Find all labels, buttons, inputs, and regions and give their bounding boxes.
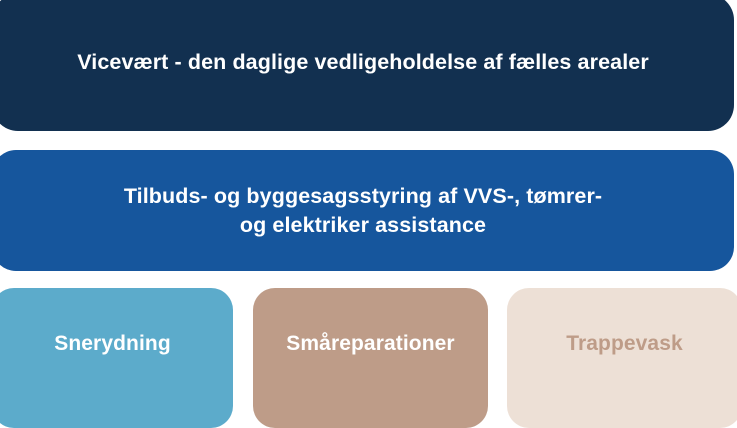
services-infographic: Vicevært - den daglige vedligeholdelse a… [0,0,737,420]
service-card-snerydning-label: Snerydning [42,330,183,358]
service-card-tilbudsstyring[interactable]: Tilbuds- og byggesagsstyring af VVS-, tø… [0,150,734,271]
service-card-trappevask-label: Trappevask [554,330,695,358]
service-card-trappevask[interactable]: Trappevask [507,288,737,428]
service-card-vicevaert-label: Vicevært - den daglige vedligeholdelse a… [51,48,675,76]
service-card-smaareparationer-label: Småreparationer [274,330,466,358]
service-card-vicevaert[interactable]: Vicevært - den daglige vedligeholdelse a… [0,0,734,131]
service-card-smaareparationer[interactable]: Småreparationer [253,288,488,428]
service-card-snerydning[interactable]: Snerydning [0,288,233,428]
service-card-tilbudsstyring-label: Tilbuds- og byggesagsstyring af VVS-, tø… [84,182,642,239]
